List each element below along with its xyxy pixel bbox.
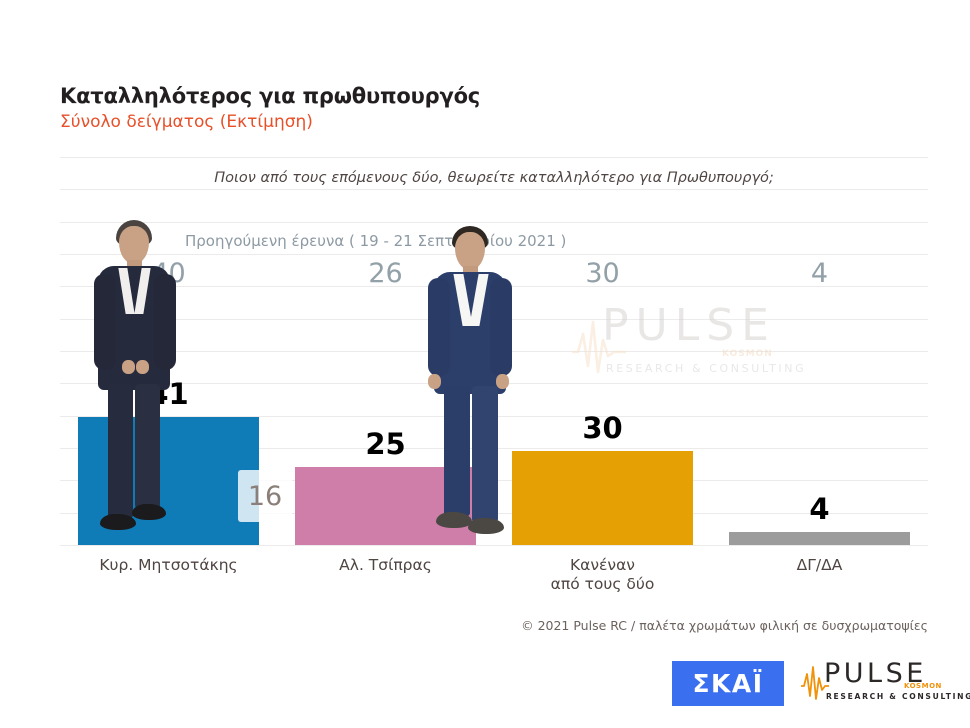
gridline <box>60 545 928 546</box>
bar-column-tsipras[interactable]: 25 <box>277 157 494 545</box>
category-label-tsipras: Αλ. Τσίπρας <box>277 556 494 595</box>
skai-logo[interactable]: ΣΚΑΪ <box>672 661 784 706</box>
page-subtitle: Σύνολο δείγματος (Εκτίμηση) <box>60 112 910 132</box>
bar-rect-dk[interactable] <box>729 532 909 545</box>
bar-value-mitsotakis: 41 <box>148 380 188 409</box>
watermark-kosmon: KOSMON <box>722 349 773 359</box>
footer-logos: ΣΚΑΪ PULSE KOSMON RESEARCH & CONSULTING <box>672 655 946 711</box>
category-label-neither: Κανέναν από τους δύο <box>494 556 711 595</box>
bar-rect-neither[interactable] <box>512 451 692 545</box>
bar-value-neither: 30 <box>582 414 622 443</box>
pulse-logo-kosmon: KOSMON <box>904 682 942 690</box>
page-title: Καταλληλότερος για πρωθυπουργός <box>60 84 910 108</box>
category-labels: Κυρ. Μητσοτάκης Αλ. Τσίπρας Κανέναν από … <box>60 556 928 595</box>
pulse-logo[interactable]: PULSE KOSMON RESEARCH & CONSULTING <box>800 658 946 708</box>
copyright-text: © 2021 Pulse RC / παλέτα χρωμάτων φιλική… <box>521 618 928 633</box>
bar-value-dk: 4 <box>809 495 829 524</box>
bar-rect-mitsotakis[interactable] <box>78 417 258 545</box>
pulse-logo-tagline: RESEARCH & CONSULTING <box>826 692 970 701</box>
slide-root: Καταλληλότερος για πρωθυπουργός Σύνολο δ… <box>0 0 970 728</box>
pulse-watermark: PULSE KOSMON RESEARCH & CONSULTING <box>570 300 806 384</box>
category-label-dk: ΔΓ/ΔΑ <box>711 556 928 595</box>
category-label-mitsotakis: Κυρ. Μητσοτάκης <box>60 556 277 595</box>
chart-header: Καταλληλότερος για πρωθυπουργός Σύνολο δ… <box>60 84 910 133</box>
watermark-tagline: RESEARCH & CONSULTING <box>606 362 806 375</box>
bar-value-tsipras: 25 <box>365 430 405 459</box>
difference-badge: 16 <box>238 470 292 522</box>
watermark-text: PULSE <box>602 304 776 348</box>
bar-rect-tsipras[interactable] <box>295 467 475 545</box>
